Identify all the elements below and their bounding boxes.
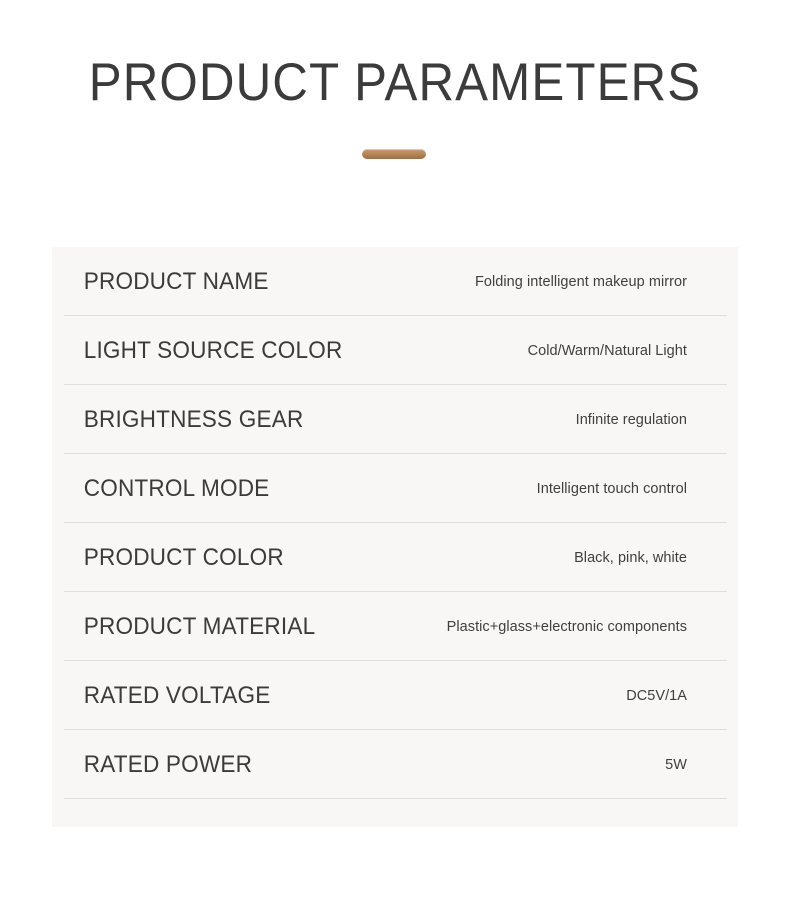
spec-label: RATED VOLTAGE (64, 682, 270, 710)
table-row: BRIGHTNESS GEAR Infinite regulation (52, 385, 738, 454)
table-row: PRODUCT MATERIAL Plastic+glass+electroni… (52, 592, 738, 661)
table-row: LIGHT SOURCE COLOR Cold/Warm/Natural Lig… (52, 316, 738, 385)
spec-value: 5W (665, 755, 727, 775)
spec-value: Folding intelligent makeup mirror (475, 272, 727, 292)
spec-label: BRIGHTNESS GEAR (64, 406, 303, 434)
spec-value: DC5V/1A (626, 686, 727, 706)
table-row: CONTROL MODE Intelligent touch control (52, 454, 738, 523)
specification-table: PRODUCT NAME Folding intelligent makeup … (52, 247, 738, 827)
row-divider (64, 798, 727, 799)
page-title: PRODUCT PARAMETERS (28, 52, 763, 114)
table-row: PRODUCT NAME Folding intelligent makeup … (52, 247, 738, 316)
product-parameters-page: PRODUCT PARAMETERS PRODUCT NAME Folding … (0, 0, 790, 897)
title-accent-rule (362, 149, 426, 159)
spec-label: RATED POWER (64, 751, 252, 779)
spec-label: LIGHT SOURCE COLOR (64, 337, 342, 365)
spec-label: PRODUCT NAME (64, 268, 269, 296)
spec-value: Black, pink, white (574, 548, 727, 568)
spec-value: Infinite regulation (576, 410, 727, 430)
table-row: PRODUCT COLOR Black, pink, white (52, 523, 738, 592)
table-row: RATED VOLTAGE DC5V/1A (52, 661, 738, 730)
spec-value: Plastic+glass+electronic components (447, 617, 727, 637)
spec-value: Cold/Warm/Natural Light (528, 341, 727, 361)
spec-label: PRODUCT COLOR (64, 544, 284, 572)
table-row: RATED POWER 5W (52, 730, 738, 799)
spec-label: PRODUCT MATERIAL (64, 613, 315, 641)
spec-value: Intelligent touch control (537, 479, 727, 499)
spec-label: CONTROL MODE (64, 475, 269, 503)
